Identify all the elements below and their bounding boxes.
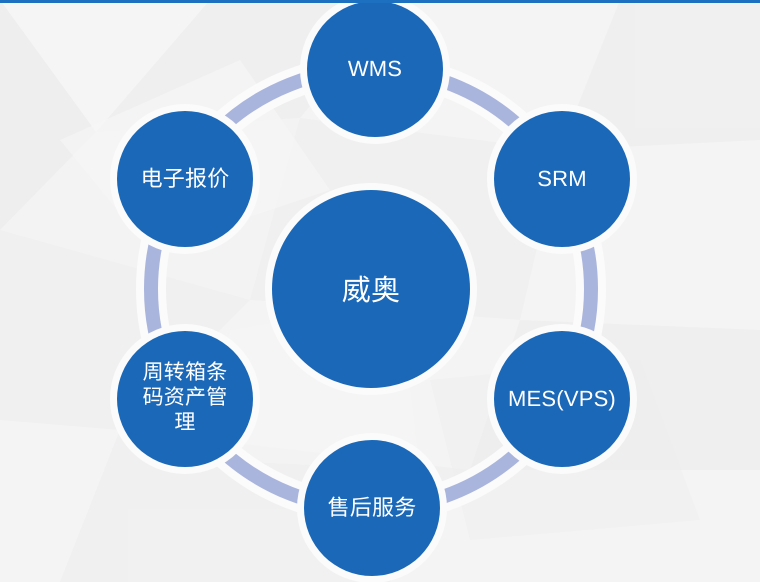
node-turnover-box-barcode-asset-management[interactable] — [117, 331, 253, 467]
node-after-sales-service[interactable] — [304, 440, 440, 576]
node-electronic-quotation[interactable] — [117, 111, 253, 247]
top-accent-bar — [0, 0, 760, 3]
diagram-canvas: 威奥 WMS SRM MES(VPS) 售后服务 周转箱条 码资产管 理 电子报… — [0, 0, 760, 582]
node-srm[interactable] — [494, 111, 630, 247]
node-center[interactable] — [272, 190, 470, 388]
node-wms[interactable] — [307, 1, 443, 137]
node-mes-vps[interactable] — [494, 331, 630, 467]
